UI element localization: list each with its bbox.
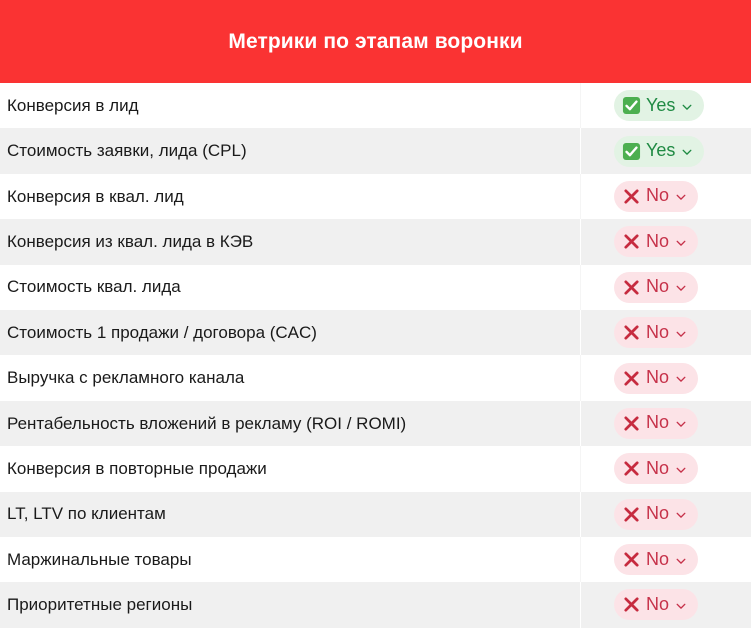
cross-icon	[622, 232, 641, 251]
table-row: Конверсия в повторные продажиNo	[0, 446, 751, 491]
table-row: Выручка с рекламного каналаNo	[0, 355, 751, 400]
check-icon	[622, 96, 641, 115]
metric-value-cell: No	[580, 265, 751, 310]
metric-label: Конверсия в лид	[0, 96, 580, 116]
metric-value-cell: No	[580, 310, 751, 355]
cross-icon	[622, 595, 641, 614]
table-row: Маржинальные товарыNo	[0, 537, 751, 582]
metric-value-cell: Yes	[580, 128, 751, 173]
status-badge-yes[interactable]: Yes	[614, 90, 704, 121]
status-badge-label: No	[646, 459, 669, 477]
status-badge-no[interactable]: No	[614, 181, 698, 212]
status-badge-no[interactable]: No	[614, 453, 698, 484]
table-row: Стоимость заявки, лида (CPL)Yes	[0, 128, 751, 173]
metric-label: Маржинальные товары	[0, 550, 580, 570]
metric-value-cell: Yes	[580, 83, 751, 128]
chevron-down-icon[interactable]	[675, 600, 687, 612]
status-badge-no[interactable]: No	[614, 408, 698, 439]
table-row: Стоимость 1 продажи / договора (CAC)No	[0, 310, 751, 355]
cross-icon	[622, 278, 641, 297]
status-badge-no[interactable]: No	[614, 589, 698, 620]
metric-label: Конверсия в квал. лид	[0, 187, 580, 207]
table-row: Рентабельность вложений в рекламу (ROI /…	[0, 401, 751, 446]
metric-value-cell: No	[580, 219, 751, 264]
metric-label: Выручка с рекламного канала	[0, 368, 580, 388]
status-badge-no[interactable]: No	[614, 226, 698, 257]
chevron-down-icon[interactable]	[675, 328, 687, 340]
chevron-down-icon[interactable]	[675, 282, 687, 294]
chevron-down-icon[interactable]	[675, 555, 687, 567]
metric-value-cell: No	[580, 492, 751, 537]
status-badge-label: Yes	[646, 96, 675, 114]
metric-label: LT, LTV по клиентам	[0, 504, 580, 524]
metric-value-cell: No	[580, 174, 751, 219]
status-badge-yes[interactable]: Yes	[614, 136, 704, 167]
chevron-down-icon[interactable]	[675, 373, 687, 385]
metric-label: Приоритетные регионы	[0, 595, 580, 615]
status-badge-label: No	[646, 232, 669, 250]
table-row: LT, LTV по клиентамNo	[0, 492, 751, 537]
chevron-down-icon[interactable]	[681, 146, 693, 158]
cross-icon	[622, 550, 641, 569]
metric-label: Конверсия в повторные продажи	[0, 459, 580, 479]
metrics-funnel-table-app: Метрики по этапам воронки Конверсия в ли…	[0, 0, 751, 633]
table-row: Конверсия из квал. лида в КЭВNo	[0, 219, 751, 264]
status-badge-no[interactable]: No	[614, 499, 698, 530]
metric-label: Стоимость квал. лида	[0, 277, 580, 297]
metric-label: Конверсия из квал. лида в КЭВ	[0, 232, 580, 252]
status-badge-label: No	[646, 277, 669, 295]
cross-icon	[622, 459, 641, 478]
chevron-down-icon[interactable]	[675, 237, 687, 249]
metric-label: Рентабельность вложений в рекламу (ROI /…	[0, 414, 580, 434]
metric-value-cell: No	[580, 537, 751, 582]
status-badge-no[interactable]: No	[614, 544, 698, 575]
table-row: Стоимость квал. лидаNo	[0, 265, 751, 310]
table-row: Приоритетные регионыNo	[0, 582, 751, 627]
metrics-table: Конверсия в лидYesСтоимость заявки, лида…	[0, 83, 751, 628]
status-badge-label: No	[646, 413, 669, 431]
cross-icon	[622, 369, 641, 388]
status-badge-no[interactable]: No	[614, 317, 698, 348]
metric-value-cell: No	[580, 401, 751, 446]
table-row: Конверсия в лидYes	[0, 83, 751, 128]
metric-value-cell: No	[580, 446, 751, 491]
status-badge-label: No	[646, 368, 669, 386]
status-badge-label: No	[646, 550, 669, 568]
status-badge-no[interactable]: No	[614, 272, 698, 303]
metric-value-cell: No	[580, 582, 751, 627]
cross-icon	[622, 414, 641, 433]
metric-label: Стоимость 1 продажи / договора (CAC)	[0, 323, 580, 343]
status-badge-no[interactable]: No	[614, 363, 698, 394]
cross-icon	[622, 187, 641, 206]
metric-label: Стоимость заявки, лида (CPL)	[0, 141, 580, 161]
cross-icon	[622, 505, 641, 524]
status-badge-label: No	[646, 504, 669, 522]
chevron-down-icon[interactable]	[675, 464, 687, 476]
table-header-banner: Метрики по этапам воронки	[0, 0, 751, 83]
check-icon	[622, 142, 641, 161]
page-title: Метрики по этапам воронки	[228, 30, 522, 53]
status-badge-label: No	[646, 595, 669, 613]
metric-value-cell: No	[580, 355, 751, 400]
chevron-down-icon[interactable]	[675, 418, 687, 430]
cross-icon	[622, 323, 641, 342]
status-badge-label: Yes	[646, 141, 675, 159]
table-row: Конверсия в квал. лидNo	[0, 174, 751, 219]
status-badge-label: No	[646, 186, 669, 204]
chevron-down-icon[interactable]	[675, 191, 687, 203]
status-badge-label: No	[646, 323, 669, 341]
chevron-down-icon[interactable]	[675, 509, 687, 521]
chevron-down-icon[interactable]	[681, 101, 693, 113]
